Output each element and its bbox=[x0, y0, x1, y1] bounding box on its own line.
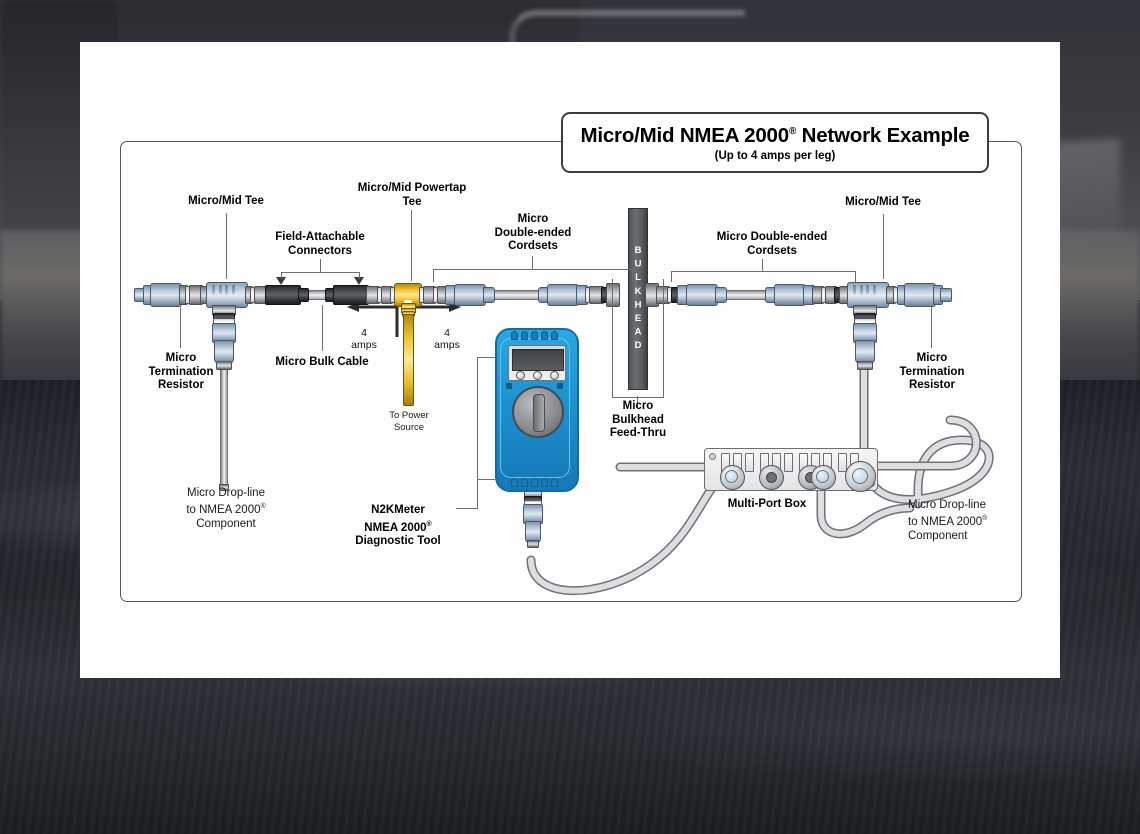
n2kmeter-device[interactable] bbox=[495, 328, 575, 488]
mpb-port-1-socket bbox=[725, 470, 738, 483]
cordset-l1-nose bbox=[483, 287, 495, 303]
registered-mark-n2kmeter: ® bbox=[427, 521, 432, 528]
label-to-power-source: To Power Source bbox=[370, 410, 448, 433]
leader-micro-mid-tee-left bbox=[226, 213, 227, 279]
page-subtitle: (Up to 4 amps per leg) bbox=[715, 150, 836, 162]
leader-cordset-left-stem bbox=[532, 256, 533, 270]
leader-n2kmeter-bar bbox=[456, 508, 478, 509]
leader-powertap-tee bbox=[411, 210, 412, 281]
mpb-port-5[interactable] bbox=[845, 461, 876, 492]
label-amps-left: 4 amps bbox=[341, 327, 387, 351]
label-dropline-left-tail: Component bbox=[196, 518, 255, 530]
meter-vent-b4 bbox=[541, 478, 548, 487]
termination-resistor-left-body bbox=[150, 283, 182, 307]
registered-mark-dropline-right: ® bbox=[982, 515, 987, 522]
bracket-cordset-left bbox=[433, 269, 633, 282]
mpb-screw-tl bbox=[709, 453, 716, 460]
cordset-r1-nose bbox=[715, 287, 727, 303]
tee-right-ridge-2 bbox=[860, 285, 863, 294]
screenshot-stage: Micro/Mid NMEA 2000® Network Example (Up… bbox=[0, 0, 1140, 834]
label-micro-double-ended-right: Micro Double-ended Cordsets bbox=[687, 231, 857, 258]
meter-vent-3 bbox=[531, 331, 538, 340]
leader-n2kmeter-stem bbox=[477, 358, 478, 508]
mpb-port-5-socket bbox=[852, 468, 868, 484]
meter-cable-outline bbox=[531, 478, 720, 591]
leader-field-attachable-stem bbox=[320, 259, 321, 273]
meter-button-3[interactable] bbox=[550, 371, 559, 380]
tee-right-ridge-1 bbox=[853, 285, 856, 294]
label-multi-port-box: Multi-Port Box bbox=[703, 498, 831, 512]
mpb-port-1[interactable] bbox=[720, 465, 745, 490]
label-dropline-left-text: Micro Drop-line to NMEA 2000 bbox=[186, 487, 265, 516]
meter-dial-knob bbox=[533, 394, 545, 432]
meter-vent-b3 bbox=[531, 478, 538, 487]
meter-corner-left bbox=[506, 383, 512, 389]
mpb-slot-3 bbox=[745, 453, 754, 472]
mpb-port-2-cap[interactable] bbox=[759, 465, 784, 490]
leader-field-attachable-bar bbox=[281, 272, 360, 273]
label-termination-resistor-right: Micro Termination Resistor bbox=[877, 352, 987, 393]
meter-vent-1 bbox=[511, 331, 518, 340]
mpb-slot-6 bbox=[784, 453, 793, 472]
tee-left-ridge-2 bbox=[219, 285, 222, 294]
label-n2kmeter: N2KMeter NMEA 2000®Diagnostic Tool bbox=[342, 504, 454, 548]
mpb-port-2-screw bbox=[766, 472, 777, 483]
diagram-title-box: Micro/Mid NMEA 2000® Network Example (Up… bbox=[561, 112, 989, 173]
leader-n2kmeter-top bbox=[477, 357, 495, 358]
label-micro-bulk-cable: Micro Bulk Cable bbox=[252, 356, 392, 370]
leader-micro-mid-tee-right bbox=[883, 214, 884, 279]
meter-button-1[interactable] bbox=[516, 371, 525, 380]
label-termination-resistor-left: Micro Termination Resistor bbox=[126, 352, 236, 393]
page-title-main: Micro/Mid NMEA 2000 bbox=[580, 124, 788, 147]
mpb-port-4[interactable] bbox=[811, 465, 836, 490]
label-dropline-right: Micro Drop-line to NMEA 2000®Component bbox=[908, 498, 1032, 543]
mpb-port-4-socket bbox=[816, 470, 829, 483]
tee-right-ridge-4 bbox=[873, 285, 876, 294]
meter-corner-right bbox=[557, 383, 563, 389]
label-n2kmeter-tail: Diagnostic Tool bbox=[355, 535, 440, 547]
meter-vent-5 bbox=[551, 331, 558, 340]
meter-vent-4 bbox=[541, 331, 548, 340]
tee-left-ridge-1 bbox=[212, 285, 215, 294]
label-powertap-tee: Micro/Mid Powertap Tee bbox=[337, 182, 487, 209]
leader-termination-right bbox=[931, 307, 932, 348]
meter-lcd-screen bbox=[512, 349, 564, 371]
label-micro-mid-tee-right: Micro/Mid Tee bbox=[803, 196, 963, 210]
leader-field-attachable-left-drop bbox=[281, 272, 282, 279]
label-bulkhead-feedthru: Micro Bulkhead Feed-Thru bbox=[592, 400, 684, 441]
label-n2kmeter-text: N2KMeter NMEA 2000 bbox=[364, 504, 426, 533]
label-dropline-right-text: Micro Drop-line to NMEA 2000 bbox=[908, 499, 986, 528]
meter-button-2[interactable] bbox=[533, 371, 542, 380]
meter-rotary-dial[interactable] bbox=[512, 386, 564, 438]
label-micro-double-ended-left: Micro Double-ended Cordsets bbox=[463, 213, 603, 254]
cordset-l2-body bbox=[547, 284, 579, 306]
label-amps-right: 4 amps bbox=[424, 327, 470, 351]
termination-resistor-right-body bbox=[904, 283, 936, 307]
tee-left-ridge-4 bbox=[232, 285, 235, 294]
leader-termination-left bbox=[180, 307, 181, 348]
label-field-attachable: Field-Attachable Connectors bbox=[248, 231, 392, 258]
meter-vent-2 bbox=[521, 331, 528, 340]
cordset-r2-body bbox=[774, 284, 806, 306]
bracket-bulkhead-feedthru bbox=[612, 279, 664, 398]
page-title-suffix: Network Example bbox=[796, 124, 969, 147]
meter-lcd-panel bbox=[508, 345, 566, 381]
label-dropline-left: Micro Drop-line to NMEA 2000®Component bbox=[165, 486, 287, 531]
meter-connector-base bbox=[527, 540, 539, 548]
micro-mid-tee-left bbox=[206, 282, 246, 306]
cordset-r1-body bbox=[686, 284, 718, 306]
meter-cable bbox=[531, 478, 720, 591]
meter-vent-b5 bbox=[551, 478, 558, 487]
dropline-right-connector-base bbox=[857, 361, 873, 370]
label-micro-mid-tee-left: Micro/Mid Tee bbox=[156, 195, 296, 209]
bracket-cordset-right bbox=[671, 271, 856, 282]
powertap-power-cable bbox=[403, 314, 414, 406]
meter-vent-b1 bbox=[511, 478, 518, 487]
leader-n2kmeter-bottom bbox=[477, 479, 495, 480]
leader-field-attachable-right-drop bbox=[359, 272, 360, 279]
tee-left-ridge-3 bbox=[225, 285, 228, 294]
multi-port-box[interactable] bbox=[704, 448, 878, 491]
micro-mid-tee-right bbox=[847, 282, 887, 306]
field-attachable-connector-1-nose bbox=[298, 288, 309, 302]
meter-vent-b2 bbox=[521, 478, 528, 487]
field-attachable-connector-1 bbox=[265, 285, 301, 305]
termination-resistor-right-tip bbox=[940, 288, 952, 302]
label-dropline-right-tail: Component bbox=[908, 530, 967, 542]
page-title: Micro/Mid NMEA 2000® Network Example bbox=[580, 124, 969, 148]
cordset-l1-body bbox=[454, 284, 486, 306]
registered-mark-dropline-left: ® bbox=[260, 503, 265, 510]
tee-right-ridge-3 bbox=[866, 285, 869, 294]
leader-micro-bulk-cable bbox=[322, 305, 323, 351]
field-attachable-connector-2 bbox=[333, 285, 369, 305]
